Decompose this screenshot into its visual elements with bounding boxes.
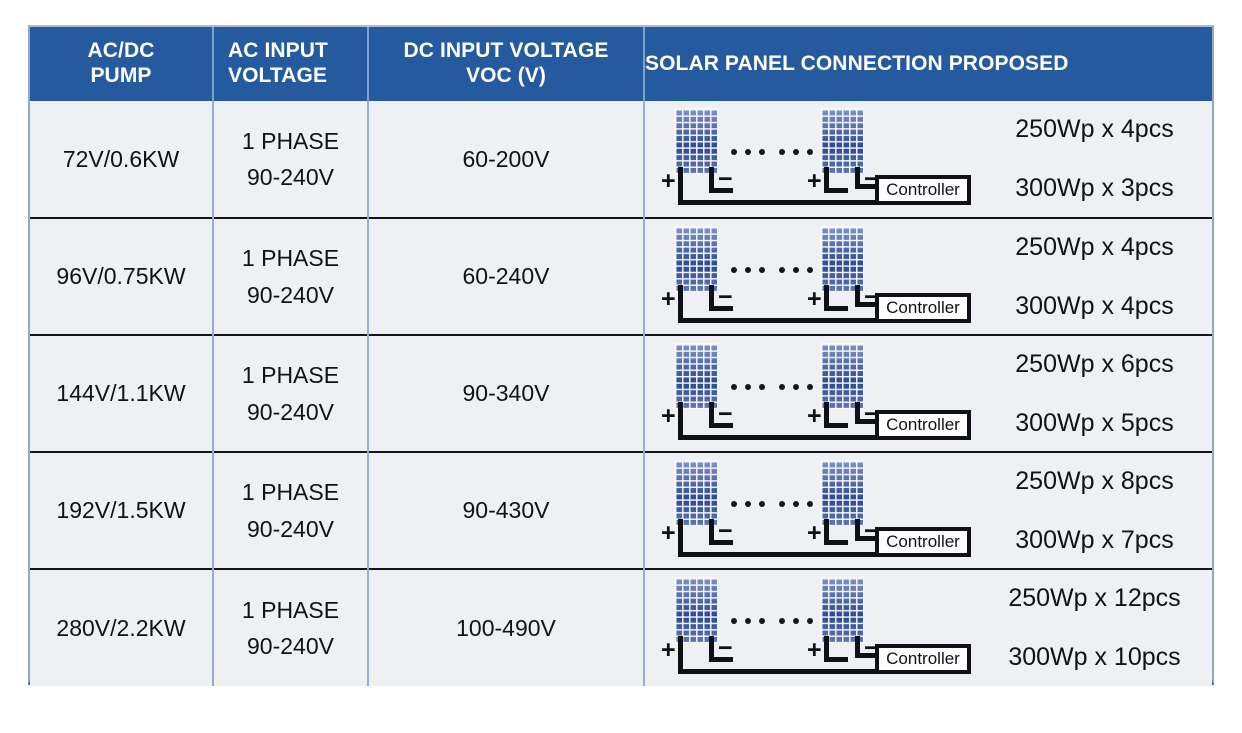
series-ellipsis-dots [731, 501, 813, 513]
controller-label: Controller [886, 298, 960, 318]
cell-ac-input-voltage: 1 PHASE 90-240V [213, 218, 368, 335]
plus-sign-right: + [807, 638, 822, 663]
cell-acdc-pump: 72V/0.6KW [30, 101, 213, 218]
spec-table-frame: AC/DC PUMP AC INPUT VOLTAGE DC INPUT VOL… [28, 25, 1214, 685]
solar-connection-wrapper: + − + − Controller [645, 101, 1212, 217]
table-header: AC/DC PUMP AC INPUT VOLTAGE DC INPUT VOL… [30, 27, 1212, 101]
solar-wiring-diagram: + − + − Controller [661, 576, 971, 680]
ac-voltage-range: 90-240V [218, 512, 363, 547]
panel-count-250wp: 250Wp x 4pcs [977, 235, 1212, 260]
cell-ac-input-voltage: 1 PHASE 90-240V [213, 452, 368, 569]
controller-box: Controller [875, 175, 971, 205]
minus-sign-left: − [718, 636, 733, 661]
cell-dc-input-voltage: 90-430V [368, 452, 644, 569]
dc-voc-range: 100-490V [373, 615, 639, 642]
series-ellipsis-dots [731, 149, 813, 161]
pump-rating: 280V/2.2KW [34, 615, 208, 642]
panel-count-250wp: 250Wp x 6pcs [977, 352, 1212, 377]
solar-connection-wrapper: + − + − Controller [645, 570, 1212, 686]
header-ac-line2: VOLTAGE [228, 64, 327, 87]
wire-right-positive-stub [824, 540, 848, 545]
cell-dc-input-voltage: 90-340V [368, 335, 644, 452]
cell-acdc-pump: 144V/1.1KW [30, 335, 213, 452]
cell-solar-panel-connection: + − + − Controller [644, 218, 1212, 335]
ac-phase-label: 1 PHASE [218, 124, 363, 159]
controller-box: Controller [875, 644, 971, 674]
cell-ac-input-voltage: 1 PHASE 90-240V [213, 101, 368, 218]
plus-sign-right: + [807, 169, 822, 194]
solar-panel-icon-left [675, 578, 717, 642]
header-dc-line2: VOC (V) [466, 64, 546, 87]
minus-sign-left: − [718, 167, 733, 192]
solar-wiring-diagram: + − + − Controller [661, 225, 971, 329]
minus-sign-left: − [718, 402, 733, 427]
solar-panel-icon-left [675, 461, 717, 525]
wire-right-positive-stub [824, 423, 848, 428]
panel-count-250wp: 250Wp x 8pcs [977, 469, 1212, 494]
controller-label: Controller [886, 649, 960, 669]
cell-ac-input-voltage: 1 PHASE 90-240V [213, 335, 368, 452]
ac-input-stack: 1 PHASE 90-240V [218, 475, 363, 546]
table-row: 72V/0.6KW 1 PHASE 90-240V 60-200V [30, 101, 1212, 218]
controller-label: Controller [886, 415, 960, 435]
minus-sign-left: − [718, 519, 733, 544]
ac-phase-label: 1 PHASE [218, 358, 363, 393]
cell-dc-input-voltage: 100-490V [368, 569, 644, 686]
cell-solar-panel-connection: + − + − Controller [644, 569, 1212, 686]
wire-positive-bus-horizontal [678, 318, 878, 323]
controller-label: Controller [886, 180, 960, 200]
solar-wiring-diagram: + − + − Controller [661, 107, 971, 211]
controller-box: Controller [875, 410, 971, 440]
plus-sign-right: + [807, 521, 822, 546]
header-pump-line2: PUMP [90, 64, 151, 87]
cell-solar-panel-connection: + − + − Controller [644, 452, 1212, 569]
solar-panel-icon-right [821, 109, 863, 173]
table-row: 192V/1.5KW 1 PHASE 90-240V 90-430V [30, 452, 1212, 569]
cell-acdc-pump: 96V/0.75KW [30, 218, 213, 335]
plus-sign-left: + [661, 404, 676, 429]
controller-label: Controller [886, 532, 960, 552]
cell-solar-panel-connection: + − + − Controller [644, 101, 1212, 218]
series-ellipsis-dots [731, 384, 813, 396]
wire-right-positive-stub [824, 657, 848, 662]
pump-rating: 72V/0.6KW [34, 146, 208, 173]
panel-count-250wp: 250Wp x 4pcs [977, 117, 1212, 142]
header-row: AC/DC PUMP AC INPUT VOLTAGE DC INPUT VOL… [30, 27, 1212, 101]
screenshot-root: AC/DC PUMP AC INPUT VOLTAGE DC INPUT VOL… [0, 0, 1242, 733]
cell-acdc-pump: 280V/2.2KW [30, 569, 213, 686]
solar-panel-icon-left [675, 344, 717, 408]
cell-acdc-pump: 192V/1.5KW [30, 452, 213, 569]
panel-count-list: 250Wp x 12pcs 300Wp x 10pcs [971, 586, 1212, 670]
column-header-acdc-pump: AC/DC PUMP [30, 27, 213, 101]
ac-phase-label: 1 PHASE [218, 475, 363, 510]
wire-positive-bus-horizontal [678, 669, 878, 674]
wire-right-positive-stub [824, 188, 848, 193]
wire-positive-bus-horizontal [678, 552, 878, 557]
ac-voltage-range: 90-240V [218, 629, 363, 664]
ac-voltage-range: 90-240V [218, 160, 363, 195]
panel-count-300wp: 300Wp x 10pcs [977, 645, 1212, 670]
header-ac-line1: AC INPUT [228, 39, 328, 62]
solar-panel-icon-right [821, 578, 863, 642]
plus-sign-right: + [807, 287, 822, 312]
dc-voc-range: 60-200V [373, 146, 639, 173]
controller-box: Controller [875, 527, 971, 557]
panel-count-list: 250Wp x 8pcs 300Wp x 7pcs [971, 469, 1212, 553]
panel-count-250wp: 250Wp x 12pcs [977, 586, 1212, 611]
panel-count-300wp: 300Wp x 5pcs [977, 411, 1212, 436]
table-row: 280V/2.2KW 1 PHASE 90-240V 100-490V [30, 569, 1212, 686]
solar-panel-icon-right [821, 344, 863, 408]
wire-right-positive-stub [824, 306, 848, 311]
ac-input-stack: 1 PHASE 90-240V [218, 593, 363, 664]
ac-input-stack: 1 PHASE 90-240V [218, 124, 363, 195]
dc-voc-range: 60-240V [373, 263, 639, 290]
plus-sign-left: + [661, 287, 676, 312]
wire-positive-bus-horizontal [678, 200, 878, 205]
solar-wiring-diagram: + − + − Controller [661, 342, 971, 446]
wire-positive-bus-horizontal [678, 435, 878, 440]
series-ellipsis-dots [731, 618, 813, 630]
panel-count-list: 250Wp x 4pcs 300Wp x 4pcs [971, 235, 1212, 319]
dc-voc-range: 90-430V [373, 497, 639, 524]
column-header-ac-input-voltage: AC INPUT VOLTAGE [213, 27, 368, 101]
ac-input-stack: 1 PHASE 90-240V [218, 241, 363, 312]
column-header-dc-input-voltage: DC INPUT VOLTAGE VOC (V) [368, 27, 644, 101]
solar-connection-wrapper: + − + − Controller [645, 336, 1212, 451]
cell-solar-panel-connection: + − + − Controller [644, 335, 1212, 452]
panel-count-300wp: 300Wp x 4pcs [977, 294, 1212, 319]
cell-dc-input-voltage: 60-200V [368, 101, 644, 218]
solar-panel-icon-left [675, 109, 717, 173]
plus-sign-left: + [661, 638, 676, 663]
series-ellipsis-dots [731, 267, 813, 279]
panel-count-list: 250Wp x 6pcs 300Wp x 5pcs [971, 352, 1212, 436]
plus-sign-right: + [807, 404, 822, 429]
pump-rating: 144V/1.1KW [34, 380, 208, 407]
solar-connection-wrapper: + − + − Controller [645, 453, 1212, 568]
solar-panel-icon-right [821, 461, 863, 525]
ac-input-stack: 1 PHASE 90-240V [218, 358, 363, 429]
cell-ac-input-voltage: 1 PHASE 90-240V [213, 569, 368, 686]
header-pump-line1: AC/DC [88, 39, 155, 62]
header-dc-line1: DC INPUT VOLTAGE [404, 39, 609, 62]
panel-count-300wp: 300Wp x 7pcs [977, 528, 1212, 553]
ac-phase-label: 1 PHASE [218, 241, 363, 276]
column-header-solar-panel-connection: SOLAR PANEL CONNECTION PROPOSED [644, 27, 1212, 101]
solar-wiring-diagram: + − + − Controller [661, 459, 971, 563]
dc-voc-range: 90-340V [373, 380, 639, 407]
solar-connection-wrapper: + − + − Controller [645, 219, 1212, 334]
pump-rating: 96V/0.75KW [34, 263, 208, 290]
cell-dc-input-voltage: 60-240V [368, 218, 644, 335]
pump-solar-spec-table: AC/DC PUMP AC INPUT VOLTAGE DC INPUT VOL… [30, 27, 1212, 686]
ac-voltage-range: 90-240V [218, 395, 363, 430]
panel-count-300wp: 300Wp x 3pcs [977, 176, 1212, 201]
plus-sign-left: + [661, 521, 676, 546]
table-row: 96V/0.75KW 1 PHASE 90-240V 60-240V [30, 218, 1212, 335]
solar-panel-icon-right [821, 227, 863, 291]
ac-phase-label: 1 PHASE [218, 593, 363, 628]
controller-box: Controller [875, 293, 971, 323]
header-solar-label: SOLAR PANEL CONNECTION PROPOSED [645, 52, 1069, 75]
panel-count-list: 250Wp x 4pcs 300Wp x 3pcs [971, 117, 1212, 201]
table-body: 72V/0.6KW 1 PHASE 90-240V 60-200V [30, 101, 1212, 686]
plus-sign-left: + [661, 169, 676, 194]
ac-voltage-range: 90-240V [218, 278, 363, 313]
pump-rating: 192V/1.5KW [34, 497, 208, 524]
solar-panel-icon-left [675, 227, 717, 291]
minus-sign-left: − [718, 285, 733, 310]
table-row: 144V/1.1KW 1 PHASE 90-240V 90-340V [30, 335, 1212, 452]
